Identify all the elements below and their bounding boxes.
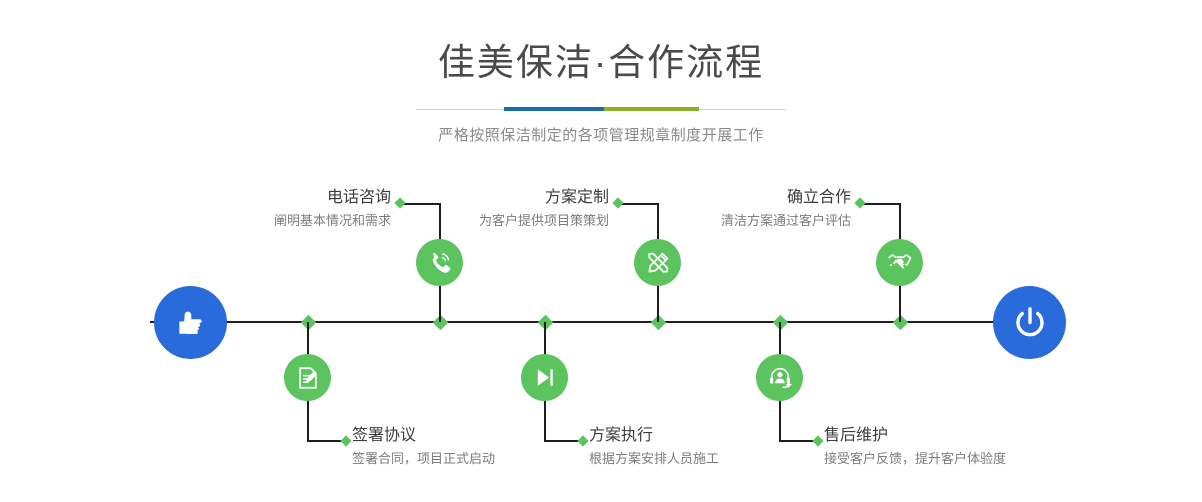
step-desc-1: 阐明基本情况和需求 [186, 211, 391, 230]
step-title-2: 签署协议 [352, 426, 582, 446]
step-icon-2[interactable] [284, 354, 331, 401]
step-title-3: 方案定制 [404, 188, 609, 208]
power-icon [1009, 302, 1051, 344]
pointing-hand-icon [171, 303, 211, 343]
step-title-1: 电话咨询 [186, 188, 391, 208]
step-icon-5[interactable] [876, 239, 923, 286]
headset-support-icon [767, 365, 793, 391]
header: 佳美保洁·合作流程 严格按照保洁制定的各项管理规章制度开展工作 [0, 0, 1202, 145]
step-label-6: 售后维护 接受客户反馈，提升客户体验度 [824, 426, 1074, 468]
document-edit-icon [295, 365, 321, 391]
step-title-6: 售后维护 [824, 426, 1074, 446]
label-tick-3 [612, 197, 623, 208]
step-desc-2: 签署合同，项目正式启动 [352, 449, 582, 468]
step-icon-4[interactable] [521, 354, 568, 401]
play-skip-icon [532, 365, 557, 390]
step-desc-6: 接受客户反馈，提升客户体验度 [824, 449, 1074, 468]
step-label-5: 确立合作 清洁方案通过客户评估 [646, 188, 851, 230]
divider-segment-olive [604, 107, 699, 111]
handshake-icon [886, 249, 913, 276]
step-desc-3: 为客户提供项目策策划 [404, 211, 609, 230]
title-divider [416, 107, 786, 111]
phone-call-icon [426, 249, 453, 276]
step-desc-5: 清洁方案通过客户评估 [646, 211, 851, 230]
step-label-3: 方案定制 为客户提供项目策策划 [404, 188, 609, 230]
step-title-5: 确立合作 [646, 188, 851, 208]
step-icon-6[interactable] [756, 354, 803, 401]
step-title-4: 方案执行 [589, 426, 819, 446]
step-desc-4: 根据方案安排人员施工 [589, 449, 819, 468]
divider-segment-blue [504, 107, 604, 111]
step-icon-1[interactable] [416, 239, 463, 286]
pencil-ruler-icon [645, 250, 671, 276]
step-label-1: 电话咨询 阐明基本情况和需求 [186, 188, 391, 230]
label-tick-2 [340, 435, 351, 446]
step-label-2: 签署协议 签署合同，项目正式启动 [352, 426, 582, 468]
label-tick-5 [854, 197, 865, 208]
connector-horizontal-5 [860, 203, 899, 205]
timeline-start-node[interactable] [154, 286, 227, 359]
page-title: 佳美保洁·合作流程 [0, 44, 1202, 81]
step-label-4: 方案执行 根据方案安排人员施工 [589, 426, 819, 468]
timeline-end-node[interactable] [993, 286, 1066, 359]
step-icon-3[interactable] [634, 239, 681, 286]
flow-diagram-canvas: 佳美保洁·合作流程 严格按照保洁制定的各项管理规章制度开展工作 [0, 0, 1202, 502]
page-subtitle: 严格按照保洁制定的各项管理规章制度开展工作 [0, 124, 1202, 145]
timeline-axis [150, 321, 1055, 323]
